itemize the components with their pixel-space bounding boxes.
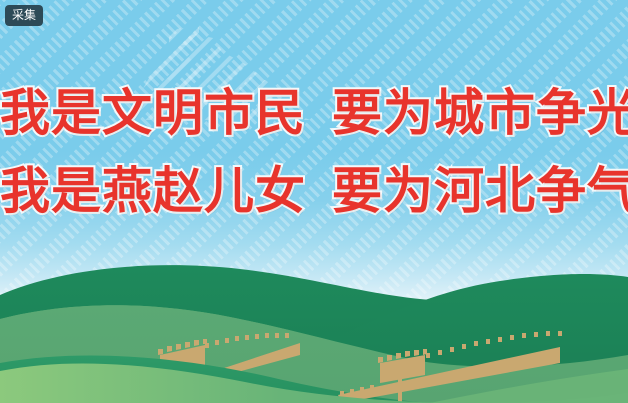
banner-screenshot: 我是文明市民要为城市争光 我是燕赵儿女要为河北争气 采集 [0,0,628,403]
great-wall-watermark-icon [95,12,325,122]
hills-landscape [0,243,628,403]
collect-button[interactable]: 采集 [5,5,43,26]
